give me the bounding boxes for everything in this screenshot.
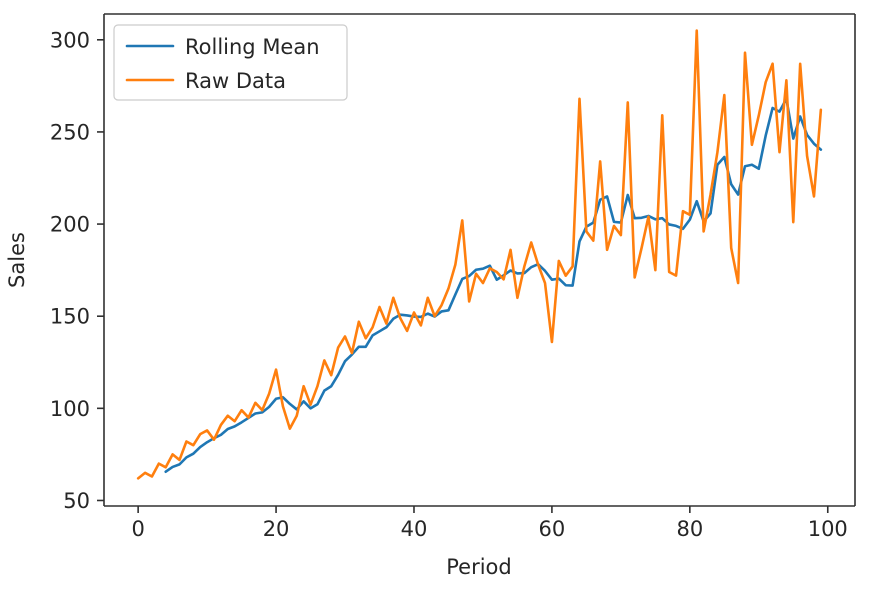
x-axis-label: Period [446,555,511,579]
legend-label-raw-data: Raw Data [185,69,286,93]
y-tick-label: 200 [50,213,90,237]
x-tick-label: 0 [131,517,144,541]
y-tick-label: 50 [63,489,90,513]
legend-label-rolling-mean: Rolling Mean [185,35,320,59]
x-tick-label: 60 [539,517,566,541]
chart-canvas: 020406080100 50100150200250300 Period Sa… [0,0,869,590]
matplotlib-figure: 020406080100 50100150200250300 Period Sa… [0,0,869,590]
x-tick-label: 80 [676,517,703,541]
x-tick-label: 40 [401,517,428,541]
x-tick-label: 100 [808,517,848,541]
y-tick-label: 250 [50,120,90,144]
y-tick-label: 300 [50,28,90,52]
legend[interactable]: Rolling Mean Raw Data [114,25,347,100]
y-tick-label: 150 [50,305,90,329]
x-tick-label: 20 [263,517,290,541]
y-axis-label: Sales [5,232,29,288]
y-tick-label: 100 [50,397,90,421]
